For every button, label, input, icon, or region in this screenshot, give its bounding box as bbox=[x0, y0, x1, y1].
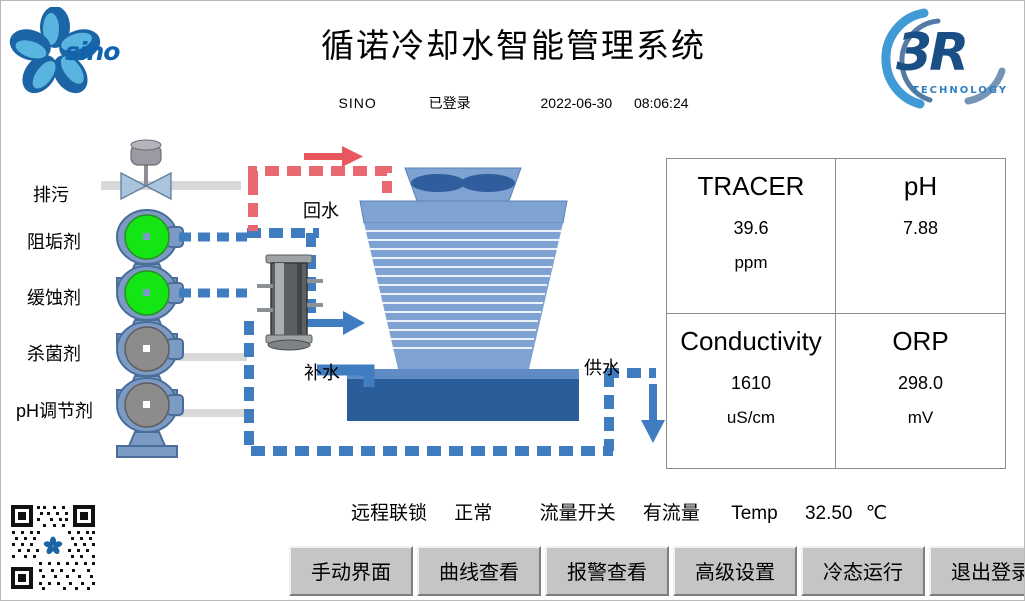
return-water-pipe bbox=[253, 171, 387, 193]
measurement-cell-conductivity: Conductivity 1610 uS/cm bbox=[667, 314, 836, 469]
return-flow-arrow-icon bbox=[304, 146, 363, 167]
system-status-row: 远程联锁 正常 流量开关 有流量 Temp 32.50 ℃ bbox=[351, 498, 1011, 525]
blowdown-valve-icon bbox=[121, 140, 171, 199]
measurement-unit: mV bbox=[908, 408, 934, 428]
measurement-unit: ppm bbox=[734, 253, 767, 273]
temperature-value: 32.50 bbox=[805, 503, 853, 525]
logout-button[interactable]: 退出登录 bbox=[929, 546, 1025, 596]
measurement-unit: uS/cm bbox=[727, 408, 775, 428]
label-supply-water: 供水 bbox=[584, 354, 620, 380]
measurement-name: pH bbox=[904, 171, 937, 202]
flow-switch-label: 流量开关 bbox=[540, 498, 616, 525]
header-status-bar: SINO 已登录 2022-06-30 08:06:24 bbox=[1, 93, 1025, 113]
equipment-label-dispersant: 阻垢剂 bbox=[27, 228, 81, 254]
remote-interlock-value: 正常 bbox=[454, 498, 492, 525]
current-time: 08:06:24 bbox=[634, 95, 689, 111]
measurement-value: 39.6 bbox=[733, 218, 768, 239]
measurement-name: Conductivity bbox=[680, 326, 822, 357]
measurement-value: 1610 bbox=[731, 373, 771, 394]
supply-flow-arrow-icon bbox=[641, 384, 665, 443]
label-makeup-water: 补水 bbox=[304, 359, 340, 385]
alarm-view-button[interactable]: 报警查看 bbox=[545, 546, 669, 596]
qr-code-icon bbox=[9, 503, 97, 591]
page-title: 循诺冷却水智能管理系统 bbox=[1, 19, 1025, 67]
manual-interface-button[interactable]: 手动界面 bbox=[289, 546, 413, 596]
measurement-name: TRACER bbox=[698, 171, 805, 202]
measurement-cell-tracer: TRACER 39.6 ppm bbox=[667, 159, 836, 314]
bottom-button-bar: 手动界面 曲线查看 报警查看 高级设置 冷态运行 退出登录 bbox=[289, 546, 1025, 596]
measurement-value: 298.0 bbox=[898, 373, 943, 394]
curve-view-button[interactable]: 曲线查看 bbox=[417, 546, 541, 596]
pump-ph-adjuster[interactable] bbox=[117, 378, 183, 457]
qr-code bbox=[9, 503, 97, 591]
current-date: 2022-06-30 bbox=[541, 95, 613, 111]
scada-screen: sino 3R TECHNOLOGY 循诺冷却水智能管理系统 SINO 已登录 … bbox=[0, 0, 1025, 601]
equipment-label-blowdown: 排污 bbox=[33, 181, 69, 207]
measurement-panel: TRACER 39.6 ppm pH 7.88 Conductivity 161… bbox=[666, 158, 1006, 469]
measurement-value: 7.88 bbox=[903, 218, 938, 239]
current-user: SINO bbox=[338, 95, 376, 111]
remote-interlock-label: 远程联锁 bbox=[351, 498, 427, 525]
cold-start-button[interactable]: 冷态运行 bbox=[801, 546, 925, 596]
login-state: 已登录 bbox=[429, 93, 471, 113]
equipment-label-ph-adjuster: pH调节剂 bbox=[16, 397, 93, 423]
temperature-unit: ℃ bbox=[866, 502, 887, 525]
measurement-cell-orp: ORP 298.0 mV bbox=[836, 314, 1005, 469]
flow-switch-value: 有流量 bbox=[643, 498, 700, 525]
advanced-settings-button[interactable]: 高级设置 bbox=[673, 546, 797, 596]
equipment-label-inhibitor: 缓蚀剂 bbox=[27, 284, 81, 310]
measurement-cell-ph: pH 7.88 bbox=[836, 159, 1005, 314]
temperature-label: Temp bbox=[731, 503, 777, 525]
label-return-water: 回水 bbox=[303, 197, 339, 223]
process-flow-diagram bbox=[1, 121, 666, 491]
equipment-label-biocide: 杀菌剂 bbox=[27, 340, 81, 366]
measurement-name: ORP bbox=[892, 326, 948, 357]
cooling-tower-icon bbox=[347, 168, 579, 421]
